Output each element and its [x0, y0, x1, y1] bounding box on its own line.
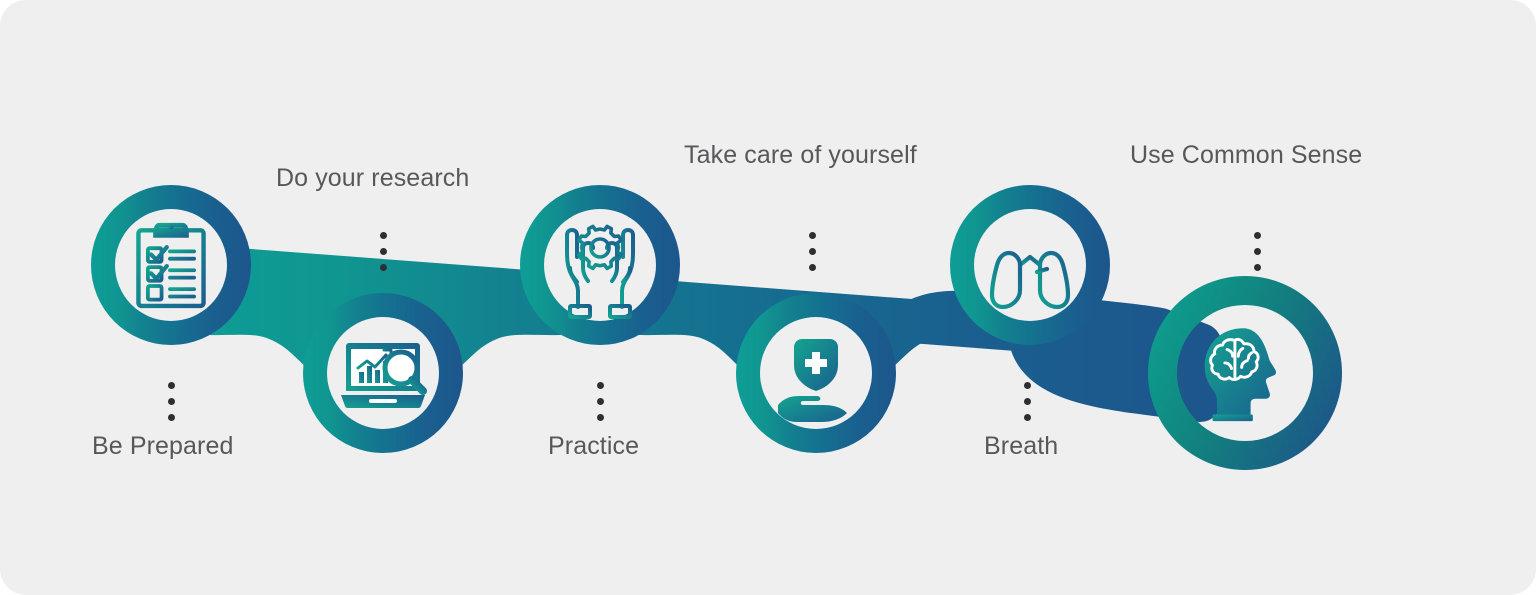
- dot: [168, 382, 175, 389]
- laptop-chart-magnifier-icon: [341, 343, 425, 408]
- dot: [597, 414, 604, 421]
- step-label-2: Do your research: [276, 164, 469, 193]
- dots-connector-6: [1253, 232, 1261, 271]
- dots-connector-2: [379, 232, 387, 271]
- dot: [809, 232, 816, 239]
- dot: [1254, 264, 1261, 271]
- dot: [168, 398, 175, 405]
- dot: [380, 232, 387, 239]
- dot: [1254, 248, 1261, 255]
- step-label-3: Practice: [548, 432, 639, 461]
- dots-connector-3: [596, 382, 604, 421]
- dot: [1254, 232, 1261, 239]
- process-chain-graphic: [0, 0, 1536, 595]
- dot: [809, 264, 816, 271]
- dot: [597, 398, 604, 405]
- step-label-4: Take care of yourself: [684, 141, 917, 170]
- infographic-canvas: Be Prepared Do your research Practice Ta…: [0, 0, 1536, 595]
- step-label-1: Be Prepared: [92, 432, 233, 461]
- dot: [597, 382, 604, 389]
- dot: [168, 414, 175, 421]
- dots-connector-5: [1023, 382, 1031, 421]
- dot: [1024, 398, 1031, 405]
- dots-connector-4: [808, 232, 816, 271]
- chain-ribbon: [91, 185, 1200, 453]
- dot: [380, 264, 387, 271]
- dot: [1024, 414, 1031, 421]
- dot: [380, 248, 387, 255]
- dot: [809, 248, 816, 255]
- dot: [1024, 382, 1031, 389]
- step-label-6: Use Common Sense: [1130, 141, 1362, 170]
- step-label-5: Breath: [984, 432, 1058, 461]
- dots-connector-1: [167, 382, 175, 421]
